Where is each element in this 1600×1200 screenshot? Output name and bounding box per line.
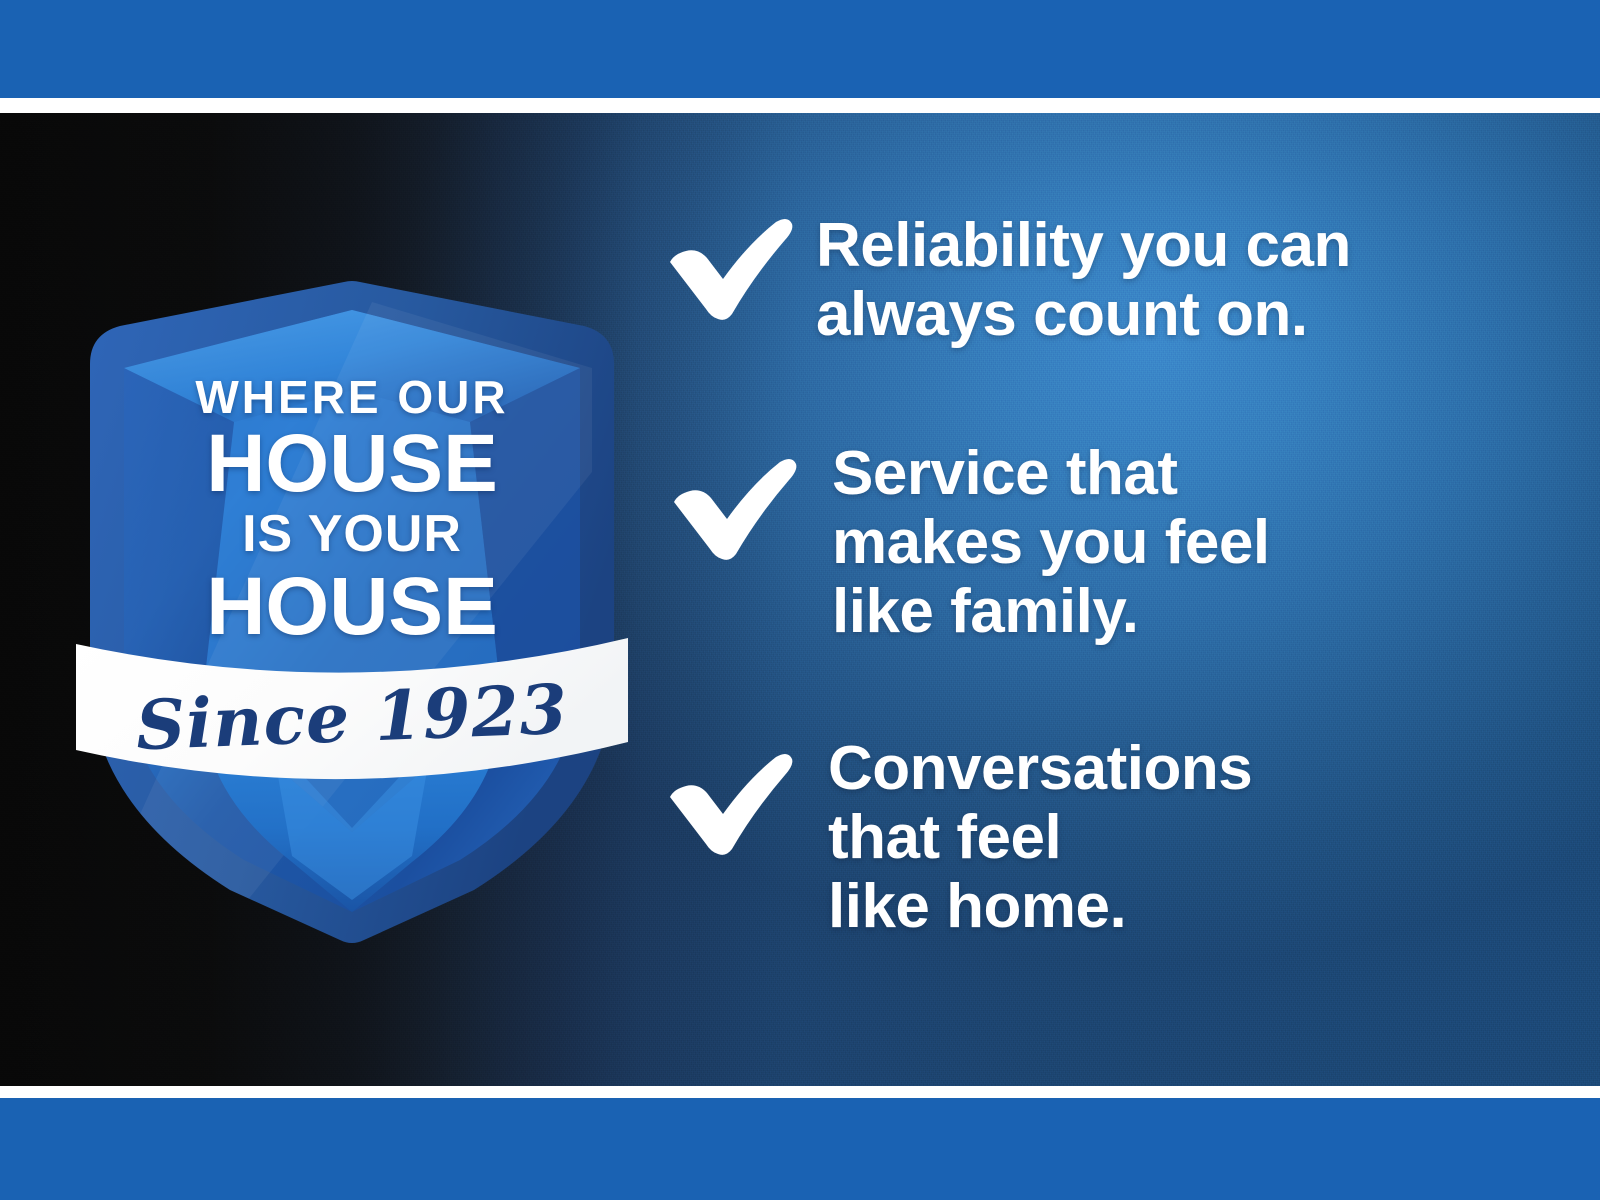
- badge-line-house-1: HOUSE: [72, 417, 632, 511]
- bottom-brand-bar: [0, 1098, 1600, 1200]
- checkmark-icon: [668, 458, 800, 562]
- benefit-text: Reliability you can always count on.: [816, 212, 1351, 350]
- benefit-item: Conversations that feel like home.: [664, 753, 1252, 941]
- badge-line-house-2: HOUSE: [72, 560, 632, 654]
- checkmark-icon: [664, 753, 796, 857]
- shield-badge: WHERE OUR HOUSE IS YOUR HOUSE Since 1923: [72, 272, 632, 952]
- top-white-divider: [0, 98, 1600, 113]
- bottom-white-divider: [0, 1086, 1600, 1098]
- benefit-text: Service that makes you feel like family.: [832, 440, 1270, 646]
- badge-line-where: WHERE OUR: [72, 370, 632, 424]
- benefits-list: Reliability you can always count on. Ser…: [664, 113, 1600, 1086]
- benefit-text: Conversations that feel like home.: [828, 735, 1252, 941]
- checkmark-icon: [664, 218, 796, 322]
- benefit-item: Reliability you can always count on.: [664, 218, 1351, 350]
- top-brand-bar: [0, 0, 1600, 98]
- benefit-item: Service that makes you feel like family.: [668, 458, 1270, 646]
- promo-graphic: WHERE OUR HOUSE IS YOUR HOUSE Since 1923…: [0, 0, 1600, 1200]
- badge-line-is-your: IS YOUR: [72, 504, 632, 564]
